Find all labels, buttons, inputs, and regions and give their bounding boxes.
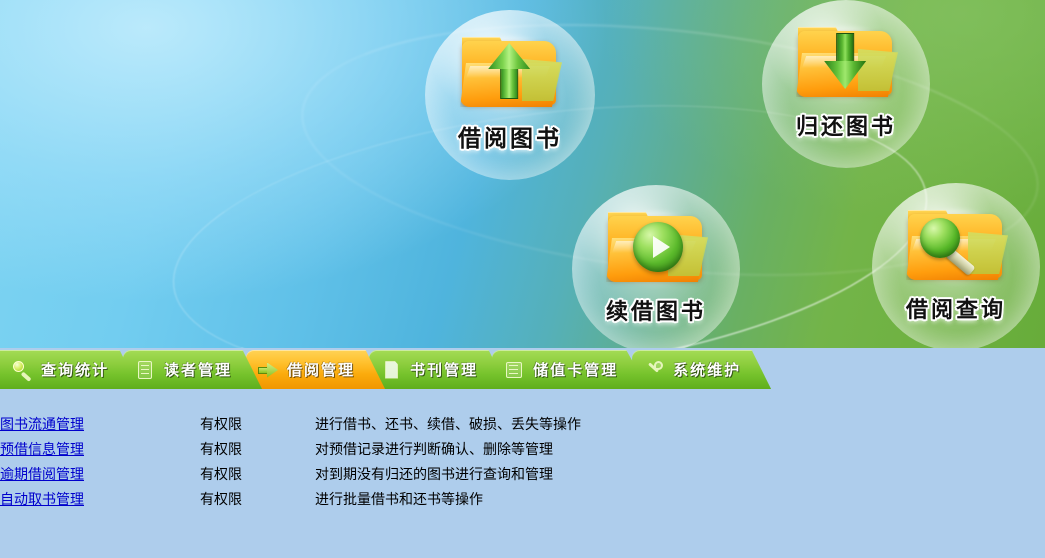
table-row: 逾期借阅管理 有权限 对到期没有归还的图书进行查询和管理: [0, 461, 581, 486]
link-book-circulation-mgmt[interactable]: 图书流通管理: [0, 417, 84, 433]
hero-bubble-label: 借阅查询: [906, 292, 1006, 324]
hero-bubble-label: 续借图书: [606, 294, 706, 326]
play-orb-icon: [633, 222, 683, 272]
wrench-icon: [644, 360, 664, 380]
permissions-table: 图书流通管理 有权限 进行借书、还书、续借、破损、丢失等操作 预借信息管理 有权…: [0, 411, 581, 511]
table-row: 自动取书管理 有权限 进行批量借书和还书等操作: [0, 486, 581, 511]
table-cell-name: 逾期借阅管理: [0, 461, 200, 486]
folder-magnifier-icon: [906, 210, 1006, 284]
hero-bubble-label: 归还图书: [796, 109, 896, 141]
hero-bubble-borrow-query[interactable]: 借阅查询: [872, 183, 1040, 348]
tab-label: 书刊管理: [410, 359, 478, 380]
table-cell-name: 图书流通管理: [0, 411, 200, 436]
hero-banner: 借阅图书 归还图书: [0, 0, 1045, 348]
arrow-right-icon: [258, 360, 278, 380]
main-navigation-tabs: 查询统计 读者管理 借阅管理 书刊管理 储值卡管理: [0, 350, 802, 389]
page-icon: [381, 360, 401, 380]
hero-bubble-return-books[interactable]: 归还图书: [762, 0, 930, 168]
content-panel: 图书流通管理 有权限 进行借书、还书、续借、破损、丢失等操作 预借信息管理 有权…: [0, 389, 1045, 558]
arrow-up-icon: [488, 43, 530, 99]
hero-bubble-label: 借阅图书: [458, 119, 562, 153]
magnifier-icon: [12, 360, 32, 380]
table-cell-name: 预借信息管理: [0, 436, 200, 461]
tab-label: 储值卡管理: [533, 359, 618, 380]
card-icon: [504, 360, 524, 380]
folder-up-arrow-icon: [460, 37, 560, 111]
tab-label: 读者管理: [164, 359, 232, 380]
table-cell-description: 进行批量借书和还书等操作: [315, 486, 581, 511]
tab-label: 查询统计: [41, 359, 109, 380]
link-overdue-borrow-mgmt[interactable]: 逾期借阅管理: [0, 467, 84, 483]
arrow-down-icon: [824, 33, 866, 89]
table-row: 预借信息管理 有权限 对预借记录进行判断确认、删除等管理: [0, 436, 581, 461]
table-cell-description: 对预借记录进行判断确认、删除等管理: [315, 436, 581, 461]
table-cell-permission: 有权限: [200, 436, 315, 461]
tab-reader-mgmt[interactable]: 读者管理: [123, 350, 262, 389]
table-cell-description: 进行借书、还书、续借、破损、丢失等操作: [315, 411, 581, 436]
tab-card-mgmt[interactable]: 储值卡管理: [492, 350, 648, 389]
tab-query-stats[interactable]: 查询统计: [0, 350, 139, 389]
table-cell-permission: 有权限: [200, 486, 315, 511]
tab-system-maint[interactable]: 系统维护: [632, 350, 771, 389]
application-window: 借阅图书 归还图书: [0, 0, 1045, 558]
document-icon: [135, 360, 155, 380]
tab-label: 借阅管理: [287, 359, 355, 380]
link-reservation-info-mgmt[interactable]: 预借信息管理: [0, 442, 84, 458]
table-row: 图书流通管理 有权限 进行借书、还书、续借、破损、丢失等操作: [0, 411, 581, 436]
table-cell-permission: 有权限: [200, 411, 315, 436]
tab-label: 系统维护: [673, 359, 741, 380]
magnifier-icon: [920, 218, 982, 278]
table-cell-permission: 有权限: [200, 461, 315, 486]
table-cell-description: 对到期没有归还的图书进行查询和管理: [315, 461, 581, 486]
folder-down-arrow-icon: [796, 27, 896, 101]
tab-borrow-mgmt[interactable]: 借阅管理: [246, 350, 385, 389]
hero-bubble-renew-books[interactable]: 续借图书: [572, 185, 740, 348]
folder-play-orb-icon: [606, 212, 706, 286]
link-auto-pickup-mgmt[interactable]: 自动取书管理: [0, 492, 84, 508]
hero-bubble-borrow-books[interactable]: 借阅图书: [425, 10, 595, 180]
table-cell-name: 自动取书管理: [0, 486, 200, 511]
tab-book-mgmt[interactable]: 书刊管理: [369, 350, 508, 389]
